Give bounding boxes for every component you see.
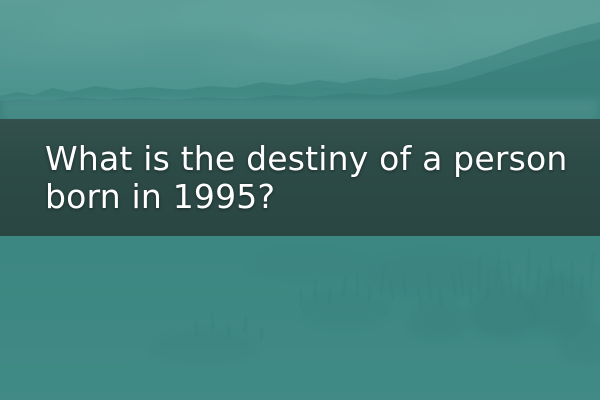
reed-stroke — [300, 290, 302, 306]
reed-stroke — [228, 326, 230, 338]
question-text: What is the destiny of a person born in … — [45, 140, 576, 215]
question-image-card: What is the destiny of a person born in … — [0, 0, 600, 400]
foliage-cluster — [250, 248, 370, 278]
foliage-cluster — [150, 330, 260, 364]
reed-stroke — [571, 262, 573, 292]
foliage-cluster — [560, 320, 600, 364]
caption-band: What is the destiny of a person born in … — [0, 119, 600, 236]
